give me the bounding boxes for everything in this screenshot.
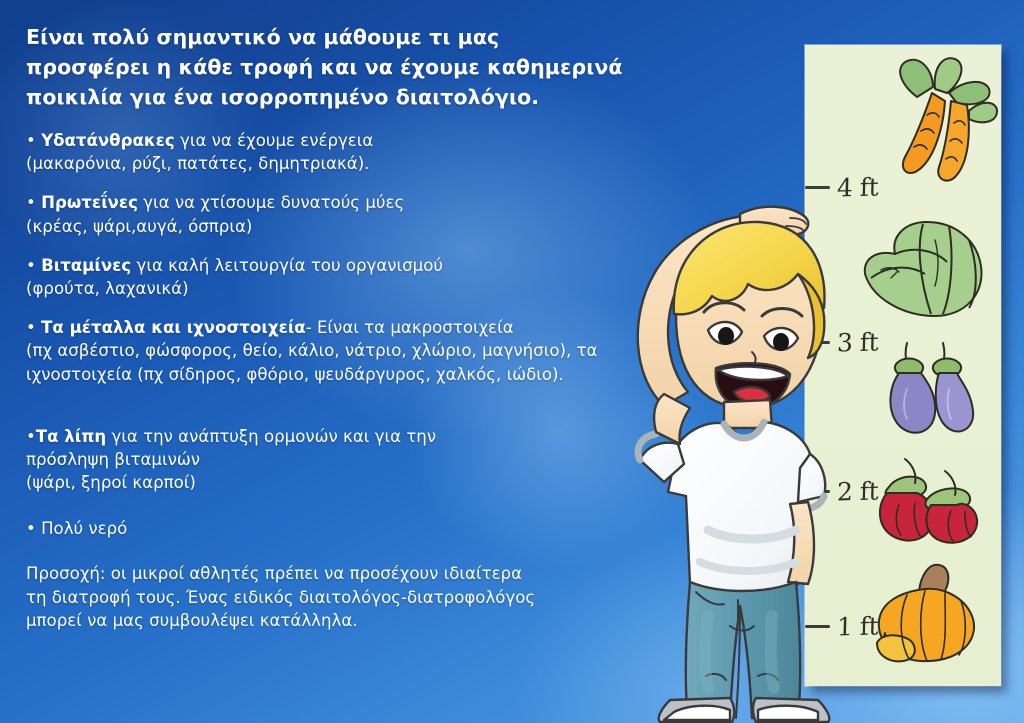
bullet-detail: (πχ ασβέστιο, φώσφορος, θείο, κάλιο, νάτ… [26, 341, 597, 383]
tick-label: 1 ft [837, 611, 879, 641]
bullet-term: Πρωτεΐνες [41, 193, 138, 212]
peppers-illustration [867, 453, 989, 545]
bullet-text: για την ανάπτυξη ορμονών και για την [106, 427, 436, 446]
tick-label: 3 ft [837, 327, 879, 357]
list-item: • Βιταμίνες για καλή λειτουργία του οργα… [26, 254, 666, 300]
tick-label: 2 ft [837, 476, 879, 506]
infographic-canvas: Είναι πολύ σημαντικό να μάθουμε τι μας π… [0, 0, 1024, 723]
bullet-marker: • [26, 427, 36, 446]
eggplants-illustration [881, 341, 977, 447]
bullet-term: Τα λίπη [36, 427, 106, 446]
bullet-marker: • [26, 193, 36, 212]
cabbage-illustration [861, 200, 995, 322]
nutrition-text-column: Είναι πολύ σημαντικό να μάθουμε τι μας π… [26, 22, 666, 633]
bullet-text: για να χτίσουμε δυνατούς μύες [138, 193, 404, 212]
bullet-detail: (μακαρόνια, ρύζι, πατάτες, δημητριακά). [26, 154, 369, 173]
list-item: •Τα λίπη για την ανάπτυξη ορμονών και γι… [26, 402, 666, 495]
closing-paragraph: Προσοχή: οι μικροί αθλητές πρέπει να προ… [26, 562, 546, 633]
tick-line [805, 186, 830, 188]
list-item: • Πρωτεΐνες για να χτίσουμε δυνατούς μύε… [26, 191, 666, 237]
bullet-marker: • [26, 318, 36, 337]
bullet-term: Υδατάνθρακες [41, 131, 175, 150]
bullet-text: για καλή λειτουργία του οργανισμού [131, 256, 443, 275]
bullet-marker: • [26, 256, 36, 275]
list-item: • Πολύ νερό [26, 517, 666, 540]
bullet-text: για να έχουμε ενέργεια [175, 131, 374, 150]
bullet-term: Τα μέταλλα και ιχνοστοιχεία [41, 318, 306, 337]
boy-measuring-height [612, 196, 840, 723]
bullet-marker: • [26, 131, 36, 150]
bullet-detail: (κρέας, ψάρι,αυγά, όσπρια) [26, 217, 252, 236]
page-title: Είναι πολύ σημαντικό να μάθουμε τι μας π… [26, 22, 626, 112]
list-item: • Τα μέταλλα και ιχνοστοιχεία- Είναι τα … [26, 316, 606, 386]
bullet-marker: • [26, 519, 36, 538]
bullet-text: - Είναι τα μακροστοιχεία [306, 318, 514, 337]
bullet-term: Βιταμίνες [41, 256, 131, 275]
bullet-detail: (φρούτα, λαχανικά) [26, 279, 189, 298]
bullet-text: Πολύ νερό [36, 519, 128, 538]
list-item: • Υδατάνθρακες για να έχουμε ενέργεια (μ… [26, 129, 666, 175]
tick-label: 4 ft [837, 172, 879, 202]
pumpkin-illustration [863, 555, 989, 671]
bullet-detail: πρόσληψη βιταμινών (ψάρι, ξηροί καρποί) [26, 450, 200, 492]
carrots-illustration [877, 53, 999, 191]
nutrient-bullet-list: • Υδατάνθρακες για να έχουμε ενέργεια (μ… [26, 129, 666, 540]
